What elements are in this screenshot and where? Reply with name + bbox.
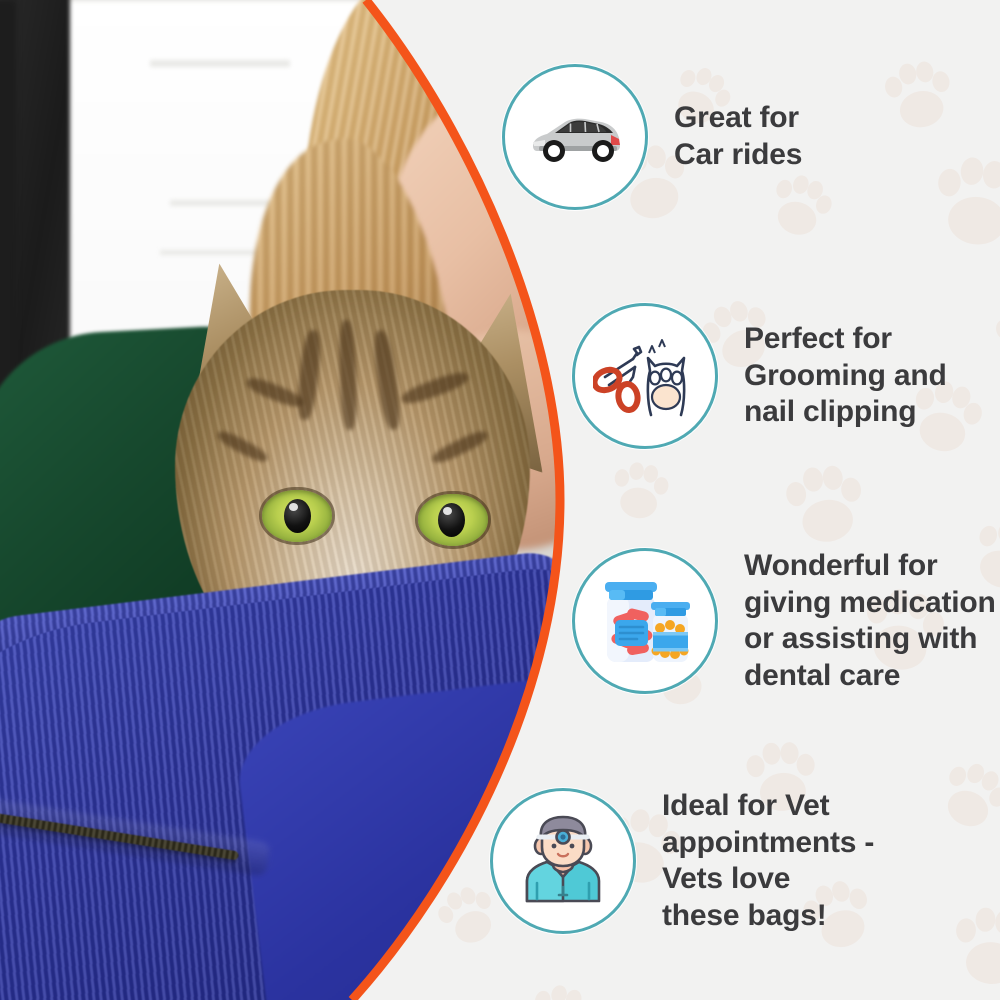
medicine-bottles-icon [593, 574, 697, 668]
feature-icon-circle [572, 548, 718, 694]
infographic-stage: Great for Car rides [0, 0, 1000, 1000]
car-icon [525, 102, 625, 172]
feature-item-grooming: Perfect for Grooming and nail clipping [572, 303, 947, 449]
feature-icon-circle [502, 64, 648, 210]
feature-label: Wonderful for giving medication or assis… [744, 548, 996, 694]
feature-item-medication: Wonderful for giving medication or assis… [572, 548, 996, 694]
feature-item-vet: Ideal for Vet appointments - Vets love t… [490, 788, 874, 934]
feature-label: Perfect for Grooming and nail clipping [744, 321, 947, 431]
feature-list: Great for Car rides [480, 0, 1000, 1000]
feature-label: Ideal for Vet appointments - Vets love t… [662, 788, 874, 934]
feature-item-car-rides: Great for Car rides [502, 64, 802, 210]
feature-label: Great for Car rides [674, 100, 802, 173]
veterinarian-icon [515, 813, 611, 909]
feature-icon-circle [572, 303, 718, 449]
nail-clipper-paw-icon [593, 331, 697, 421]
feature-icon-circle [490, 788, 636, 934]
